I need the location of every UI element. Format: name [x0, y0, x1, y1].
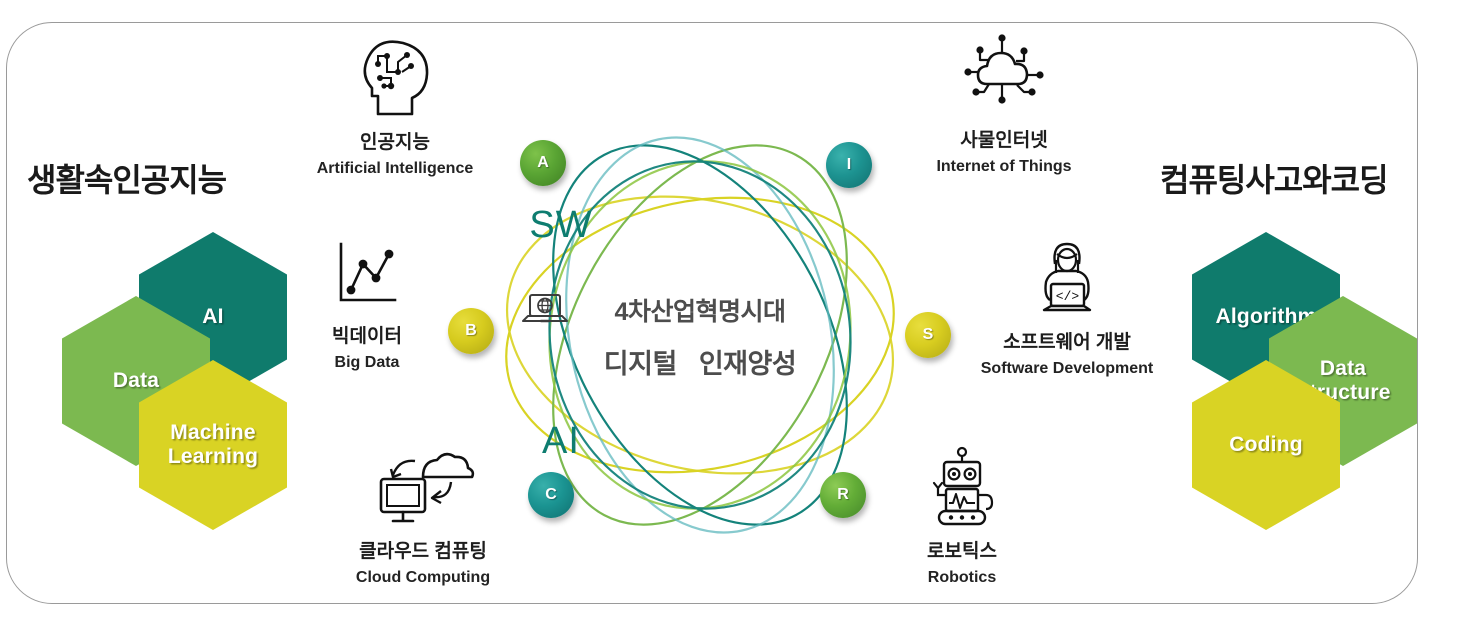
infographic-root: 생활속인공지능 AI Data Machine Learning 컴퓨팅사고와코… — [0, 0, 1462, 627]
core-subline: 디지털 인재양성 — [520, 342, 880, 381]
topic-cloud-en-label: Cloud Computing — [308, 569, 538, 587]
hexagon-ml-line1: Machine — [170, 421, 255, 444]
badge-s-letter: S — [923, 326, 934, 344]
badge-artificial-intelligence[interactable]: A — [520, 140, 566, 186]
left-panel-title: 생활속인공지능 — [27, 155, 226, 201]
badge-cloud-computing[interactable]: C — [528, 472, 574, 518]
core-subline-right: 인재양성 — [699, 342, 796, 381]
cloud-network-icon — [889, 26, 1119, 118]
badge-c-letter: C — [545, 486, 557, 504]
developer-laptop-icon: </> — [952, 228, 1182, 320]
center-orbit-diagram: SW 4차산업혁명시대 디지털 인재양성 AI — [430, 120, 970, 550]
badge-robotics[interactable]: R — [820, 472, 866, 518]
hexagon-data-label: Data — [113, 369, 159, 393]
badge-big-data[interactable]: B — [448, 308, 494, 354]
core-message: 4차산업혁명시대 디지털 인재양성 — [520, 292, 880, 381]
topic-robot-en-label: Robotics — [847, 569, 1077, 587]
hexagon-ds-line1: Data — [1320, 357, 1366, 380]
hexagon-machine-learning-label: Machine Learning — [168, 421, 258, 469]
right-hexagon-cluster: Algorithm Data Structure Coding — [1152, 232, 1452, 532]
topic-sw-ko-label: 소프트웨어 개발 — [952, 327, 1182, 354]
hexagon-ml-line2: Learning — [168, 445, 258, 468]
badge-b-letter: B — [465, 322, 477, 340]
badge-a-letter: A — [537, 154, 549, 172]
hexagon-coding-label: Coding — [1229, 433, 1303, 457]
topic-sw-en-label: Software Development — [952, 360, 1182, 378]
svg-text:</>: </> — [1056, 289, 1080, 304]
hexagon-ai-label: AI — [202, 305, 223, 329]
core-label-sw: SW — [471, 204, 651, 247]
core-headline: 4차산업혁명시대 — [520, 292, 880, 328]
brain-head-icon — [280, 28, 510, 120]
badge-internet-of-things[interactable]: I — [826, 142, 872, 188]
right-panel-title: 컴퓨팅사고와코딩 — [1160, 155, 1388, 201]
badge-software-development[interactable]: S — [905, 312, 951, 358]
core-label-ai: AI — [471, 420, 651, 463]
badge-r-letter: R — [837, 486, 849, 504]
core-subline-left: 디지털 — [604, 342, 677, 381]
topic-software-development: </> 소프트웨어 개발 Software Development — [952, 228, 1182, 378]
badge-i-letter: I — [847, 156, 851, 174]
